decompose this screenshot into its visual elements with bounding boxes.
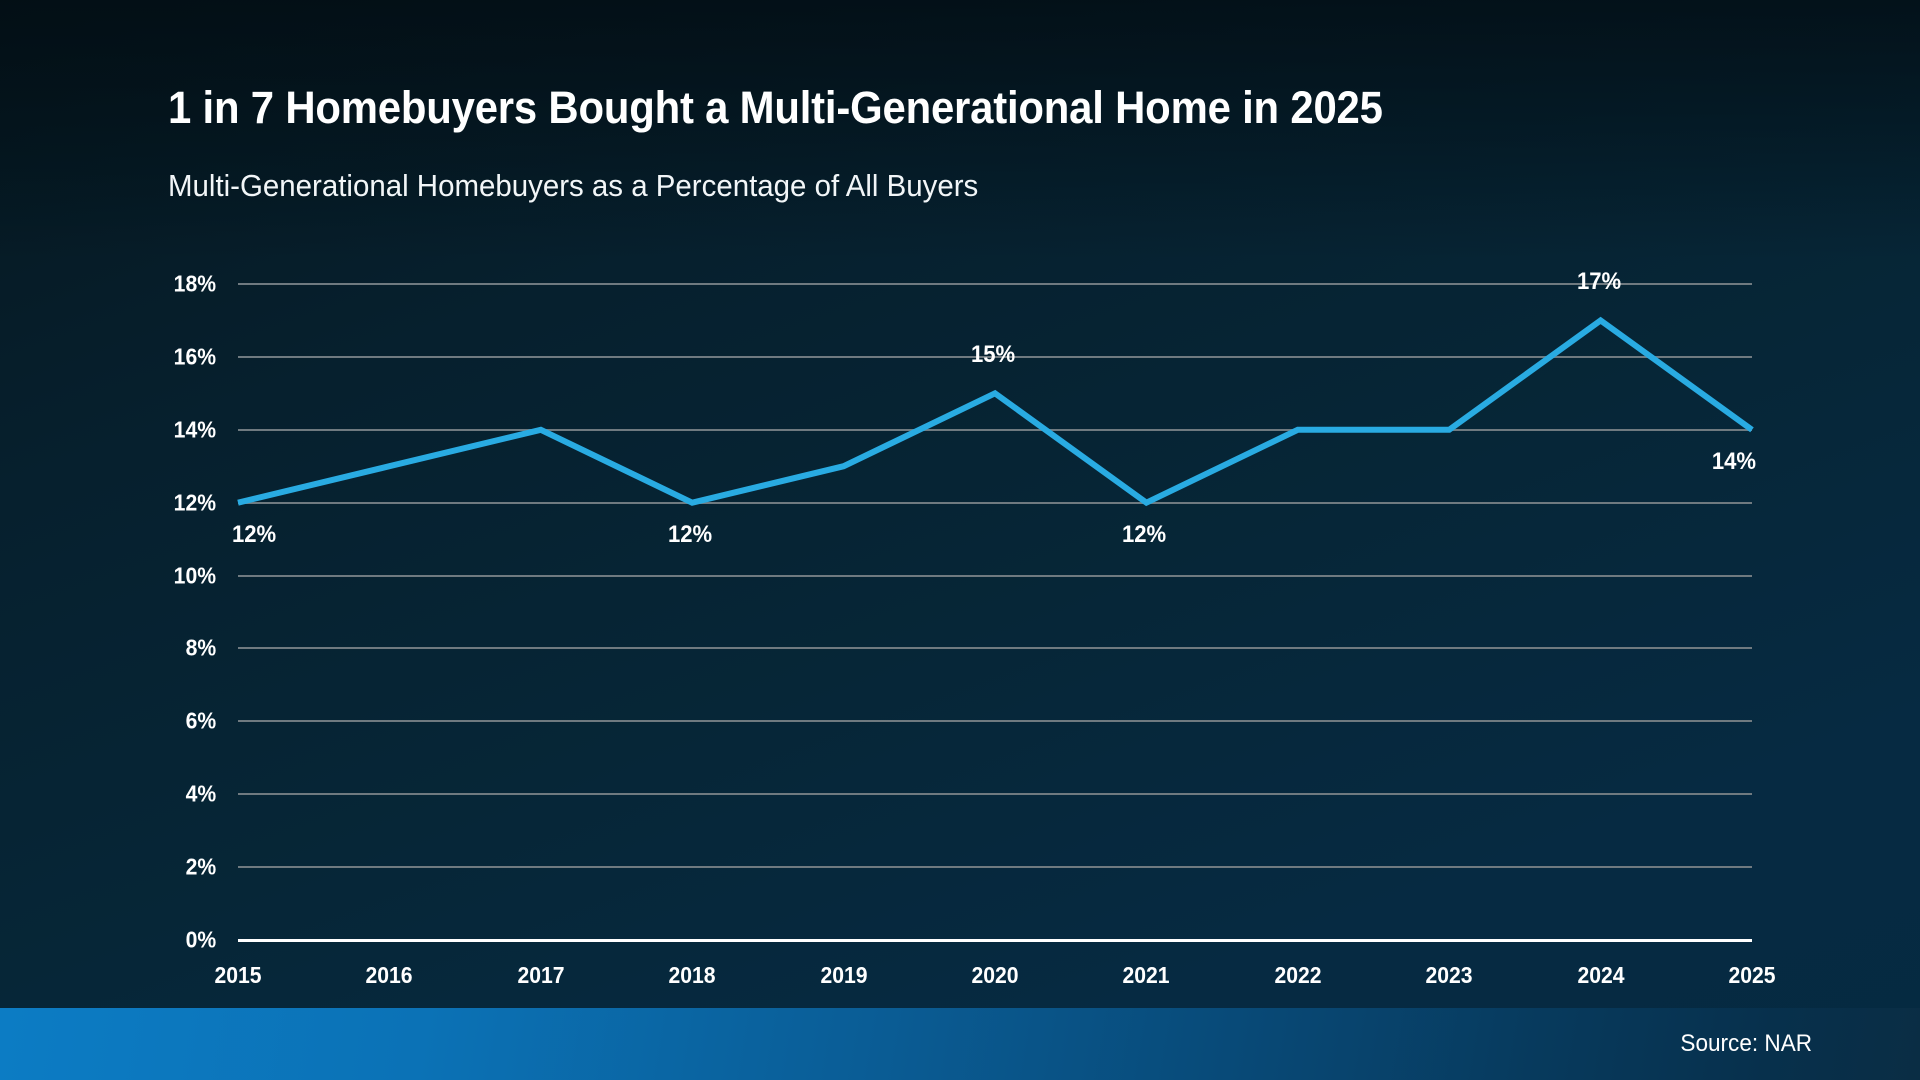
y-axis-tick-label: 2% [185,854,216,881]
x-axis-tick-label: 2017 [517,962,564,989]
x-axis-tick-label: 2023 [1426,962,1473,989]
source-note: Source: NAR [1680,1030,1812,1058]
y-axis-tick-label: 16% [174,343,216,370]
data-point-label: 12% [232,521,276,549]
x-axis-tick-label: 2016 [366,962,413,989]
y-axis-tick-label: 4% [185,781,216,808]
x-axis-tick-label: 2015 [214,962,261,989]
x-axis-tick-label: 2022 [1274,962,1321,989]
data-point-label: 12% [1122,521,1166,549]
y-axis-tick-label: 12% [174,489,216,516]
x-axis-tick-label: 2018 [669,962,716,989]
data-point-label: 14% [1712,448,1756,476]
plot-area [238,284,1752,940]
x-axis-tick-label: 2019 [820,962,867,989]
y-axis-tick-label: 6% [185,708,216,735]
y-axis-tick-label: 18% [174,271,216,298]
data-point-label: 12% [668,521,712,549]
y-axis-tick-label: 10% [174,562,216,589]
page-title: 1 in 7 Homebuyers Bought a Multi-Generat… [168,82,1383,134]
data-point-label: 17% [1577,268,1621,296]
data-point-label: 15% [971,341,1015,369]
page-subtitle: Multi-Generational Homebuyers as a Perce… [168,168,978,204]
footer-bar: Source: NAR [0,1008,1920,1080]
x-axis-tick-label: 2021 [1123,962,1170,989]
line-series [238,284,1752,940]
x-axis-tick-label: 2024 [1577,962,1624,989]
infographic-slide: 1 in 7 Homebuyers Bought a Multi-Generat… [0,0,1920,1080]
x-axis-tick-label: 2020 [971,962,1018,989]
y-axis-tick-label: 0% [185,927,216,954]
x-axis-tick-label: 2025 [1728,962,1775,989]
y-axis-tick-label: 14% [174,416,216,443]
y-axis-tick-label: 8% [185,635,216,662]
